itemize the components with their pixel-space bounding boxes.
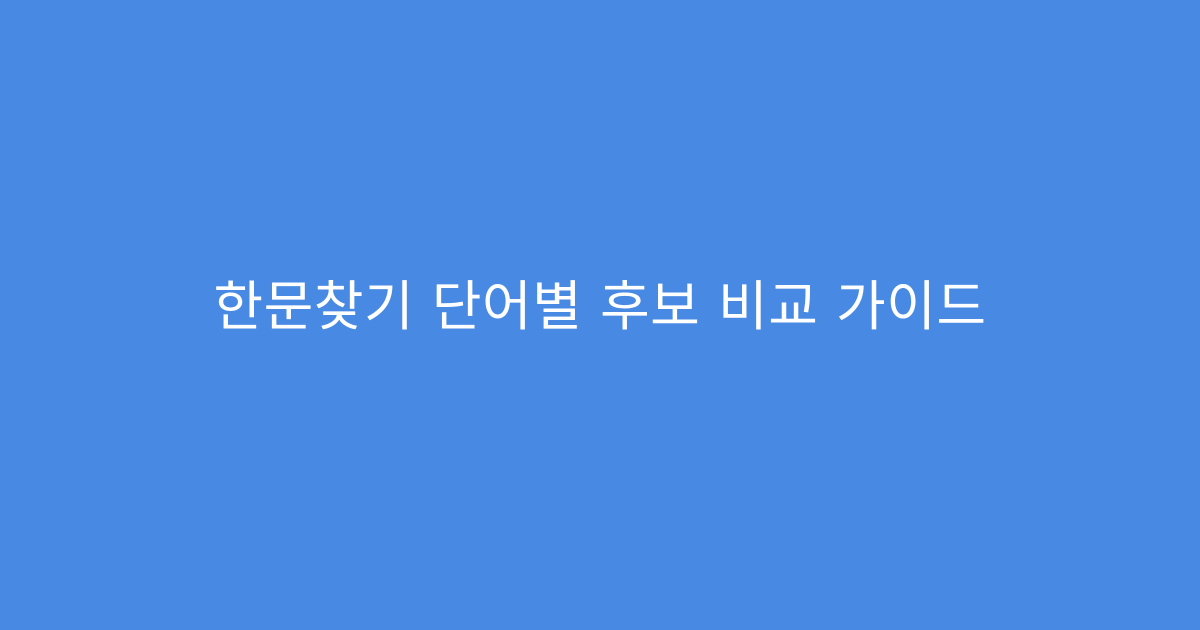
page-title: 한문찾기 단어별 후보 비교 가이드 xyxy=(80,275,1120,339)
social-share-card: 한문찾기 단어별 후보 비교 가이드 xyxy=(0,0,1200,630)
title-block: 한문찾기 단어별 후보 비교 가이드 xyxy=(40,275,1160,339)
